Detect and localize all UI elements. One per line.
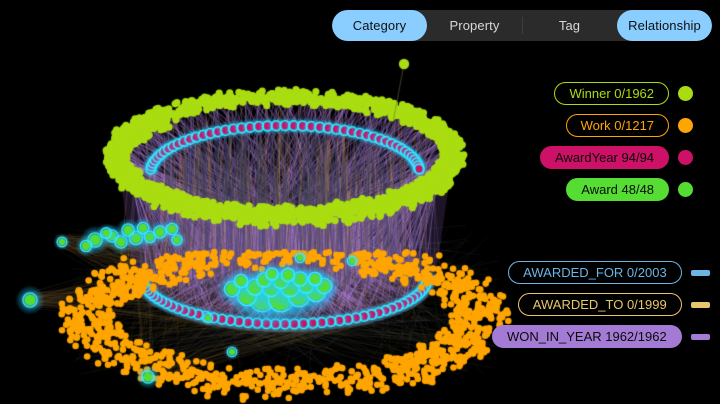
tab-property[interactable]: Property xyxy=(427,10,522,41)
relationship-chip-won-in-year[interactable]: WON_IN_YEAR 1962/1962 xyxy=(492,325,682,348)
tab-tag[interactable]: Tag xyxy=(522,10,617,41)
legend-row-winner[interactable]: Winner 0/1962 xyxy=(540,82,693,105)
relationship-chip-awarded-to[interactable]: AWARDED_TO 0/1999 xyxy=(518,293,682,316)
color-swatch-work-icon xyxy=(678,118,693,133)
category-chip-work[interactable]: Work 0/1217 xyxy=(566,114,669,137)
tab-relationship[interactable]: Relationship xyxy=(617,10,712,41)
legend-row-awarded-for[interactable]: AWARDED_FOR 0/2003 xyxy=(492,261,710,284)
category-chip-awardyear[interactable]: AwardYear 94/94 xyxy=(540,146,669,169)
color-swatch-awarded-for-icon xyxy=(691,270,710,276)
app-root: Category Property Tag Relationship Winne… xyxy=(0,0,720,404)
legend-row-work[interactable]: Work 0/1217 xyxy=(540,114,693,137)
legend-row-award[interactable]: Award 48/48 xyxy=(540,178,693,201)
category-chip-winner[interactable]: Winner 0/1962 xyxy=(554,82,669,105)
category-legend: Winner 0/1962 Work 0/1217 AwardYear 94/9… xyxy=(540,82,693,201)
color-swatch-awardyear-icon xyxy=(678,150,693,165)
filter-tab-bar[interactable]: Category Property Tag Relationship xyxy=(332,10,712,41)
color-swatch-award-icon xyxy=(678,182,693,197)
legend-row-won-in-year[interactable]: WON_IN_YEAR 1962/1962 xyxy=(492,325,710,348)
legend-row-awarded-to[interactable]: AWARDED_TO 0/1999 xyxy=(492,293,710,316)
relationship-legend: AWARDED_FOR 0/2003 AWARDED_TO 0/1999 WON… xyxy=(492,261,710,348)
relationship-chip-awarded-for[interactable]: AWARDED_FOR 0/2003 xyxy=(508,261,682,284)
color-swatch-winner-icon xyxy=(678,86,693,101)
category-chip-award[interactable]: Award 48/48 xyxy=(566,178,669,201)
tab-category[interactable]: Category xyxy=(332,10,427,41)
legend-row-awardyear[interactable]: AwardYear 94/94 xyxy=(540,146,693,169)
color-swatch-awarded-to-icon xyxy=(691,302,710,308)
color-swatch-won-in-year-icon xyxy=(691,334,710,340)
